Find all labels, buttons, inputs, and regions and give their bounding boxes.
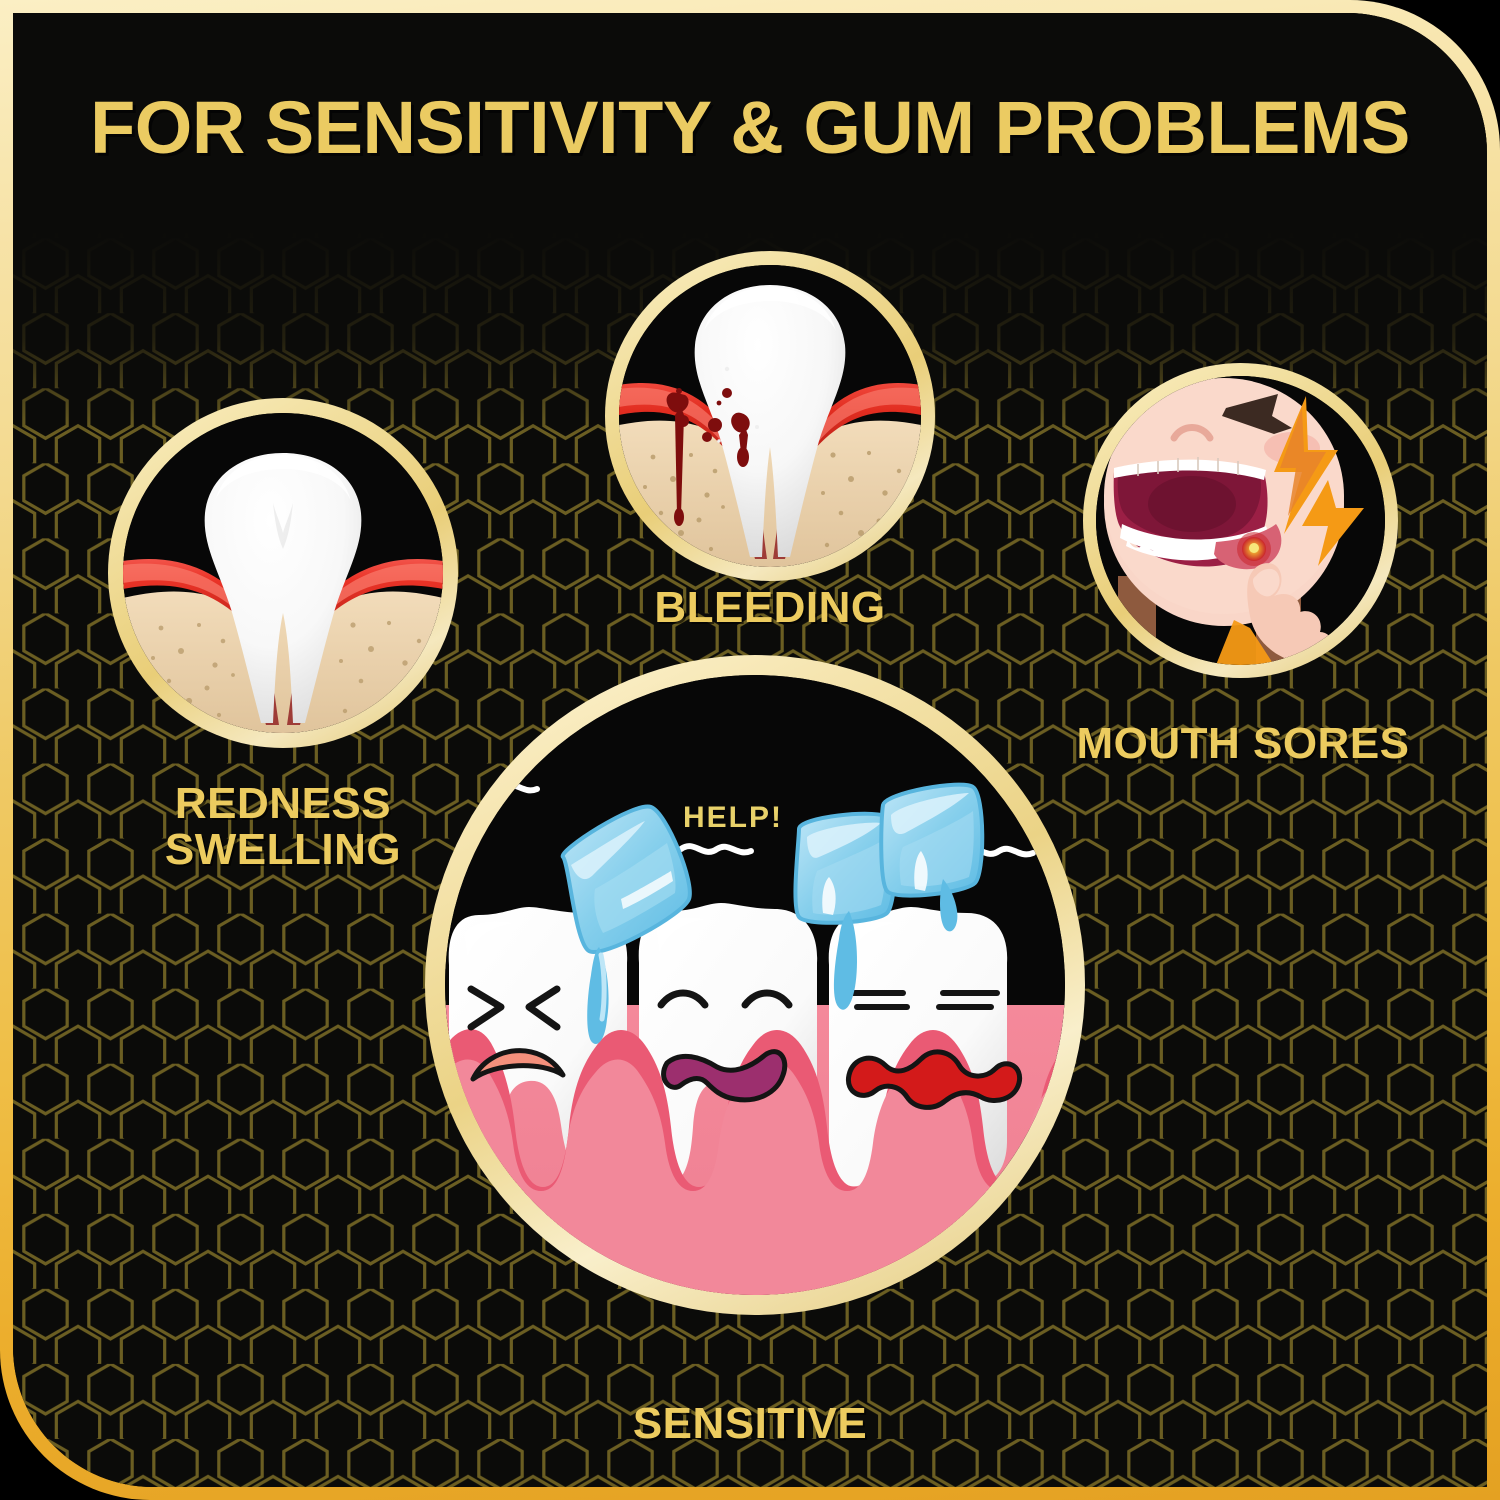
- medallion-bleeding[interactable]: [605, 251, 935, 581]
- medallion-sensitive[interactable]: HELP!: [425, 655, 1085, 1315]
- label-bleeding: BLEEDING: [600, 585, 940, 631]
- label-mouth-sores: MOUTH SORES: [1063, 721, 1423, 767]
- label-redness-swelling: REDNESS SWELLING: [73, 781, 493, 873]
- help-text: HELP!: [683, 801, 783, 835]
- sensitive-teeth-icecube-icon: [445, 675, 1065, 1295]
- medallion-redness-swelling[interactable]: [108, 398, 458, 748]
- page-title: FOR SENSITIVITY & GUM PROBLEMS: [13, 85, 1487, 170]
- tooth-gum-inflammation-icon: [123, 413, 443, 733]
- poster-panel: FOR SENSITIVITY & GUM PROBLEMS: [13, 13, 1487, 1487]
- label-sensitive: SENSITIVE: [550, 1401, 950, 1447]
- medallion-mouth-sores[interactable]: [1083, 363, 1398, 678]
- mouth-sore-icon: [1096, 376, 1385, 665]
- tooth-gum-bleeding-icon: [619, 265, 921, 567]
- poster-frame: FOR SENSITIVITY & GUM PROBLEMS: [0, 0, 1500, 1500]
